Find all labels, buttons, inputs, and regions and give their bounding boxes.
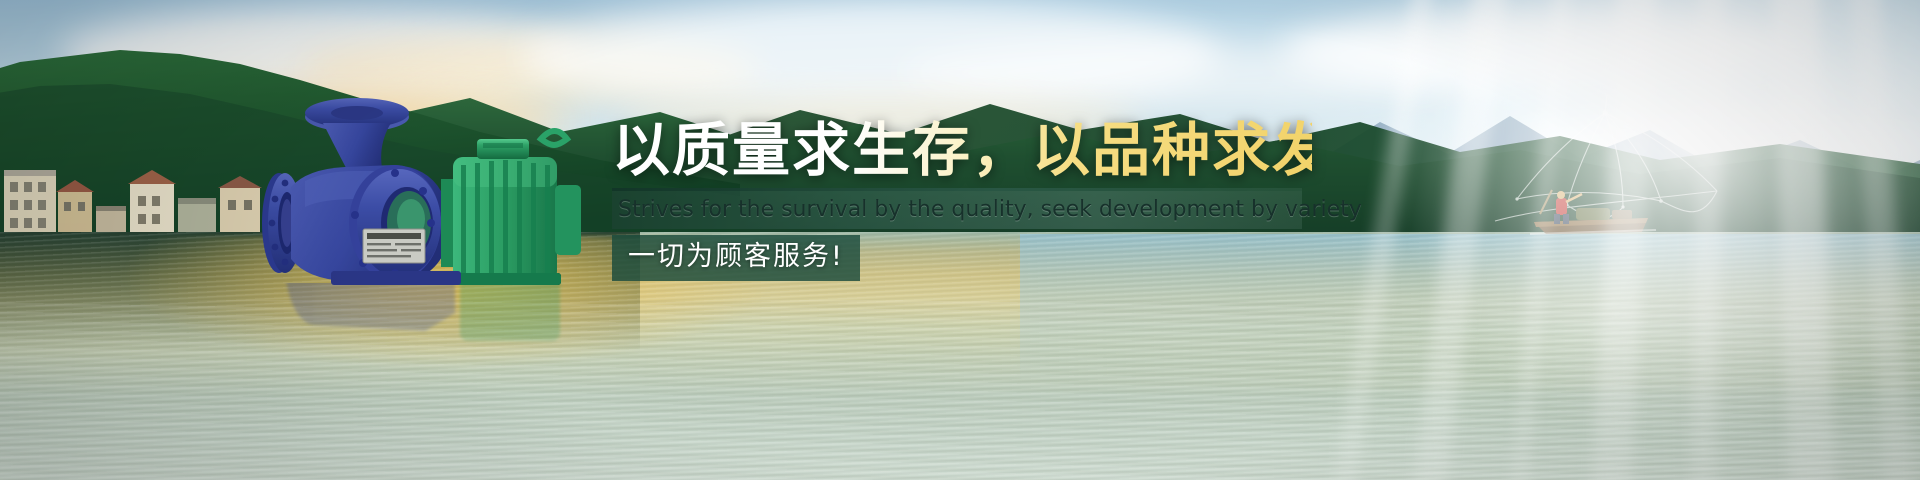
pump-casing: [291, 165, 443, 283]
banner-text-block: 以质量求生存，以品种求发展 Strives for the survival b…: [612, 120, 1312, 281]
subtitle-band: Strives for the survival by the quality,…: [612, 191, 1302, 229]
fishing-boat: [1530, 188, 1660, 244]
banner-subtitle: Strives for the survival by the quality,…: [618, 196, 1362, 224]
banner-headline: 以质量求生存，以品种求发展: [612, 120, 1312, 181]
service-slogan-text: 一切为顾客服务!: [628, 241, 844, 272]
promo-banner: 以质量求生存，以品种求发展 Strives for the survival b…: [0, 0, 1920, 480]
centrifugal-pump-product: [245, 95, 585, 285]
pump-nameplate: [363, 229, 425, 263]
pump-reflection: [245, 283, 585, 393]
service-slogan-badge: 一切为顾客服务!: [612, 235, 860, 281]
